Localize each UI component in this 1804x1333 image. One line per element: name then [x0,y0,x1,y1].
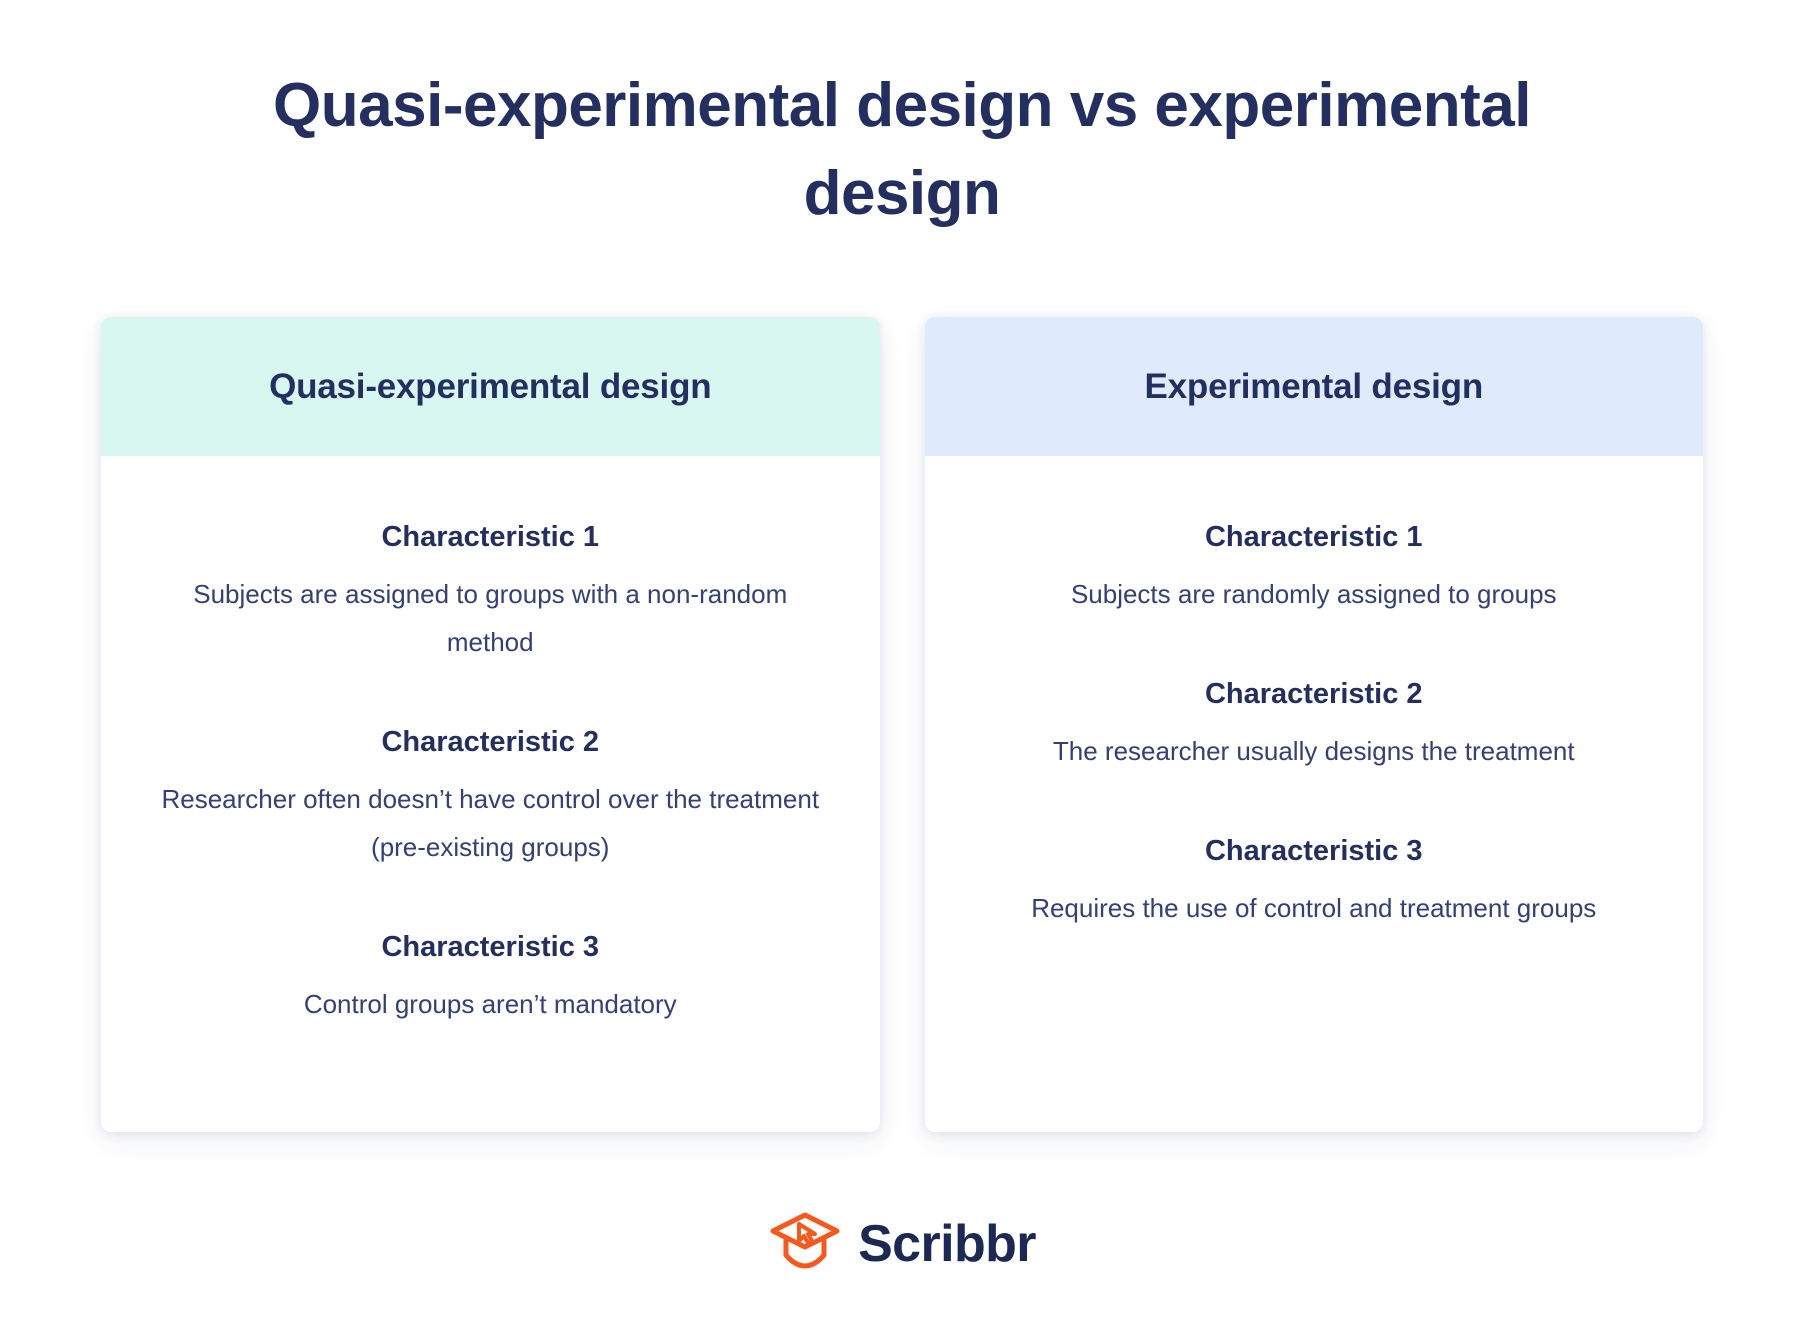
card-header-quasi-experimental-design: Quasi-experimental design [101,317,880,456]
characteristic-description: Control groups aren’t mandatory [160,980,820,1028]
characteristic-description: Researcher often doesn’t have control ov… [160,775,820,871]
characteristic-block: Characteristic 3 Requires the use of con… [963,832,1666,932]
characteristic-block: Characteristic 3 Control groups aren’t m… [139,928,842,1028]
card-body-experimental-design: Characteristic 1 Subjects are randomly a… [925,456,1704,1132]
characteristic-description: Subjects are randomly assigned to groups [984,570,1644,618]
footer-branding: Scribbr [0,1210,1804,1277]
characteristic-description: Subjects are assigned to groups with a n… [160,570,820,666]
comparison-cards: Quasi-experimental design Characteristic… [101,317,1703,1132]
card-quasi-experimental-design: Quasi-experimental design Characteristic… [101,317,880,1132]
card-header-label: Quasi-experimental design [269,367,711,407]
card-header-experimental-design: Experimental design [925,317,1704,456]
characteristic-title: Characteristic 1 [139,518,842,556]
card-body-quasi-experimental-design: Characteristic 1 Subjects are assigned t… [101,456,880,1132]
infographic-page: Quasi-experimental design vs experimenta… [0,0,1804,1333]
characteristic-title: Characteristic 3 [963,832,1666,870]
characteristic-block: Characteristic 2 The researcher usually … [963,675,1666,775]
characteristic-block: Characteristic 2 Researcher often doesn’… [139,723,842,871]
graduation-cap-cursor-icon [768,1210,842,1277]
characteristic-title: Characteristic 2 [963,675,1666,713]
characteristic-title: Characteristic 2 [139,723,842,761]
characteristic-title: Characteristic 1 [963,518,1666,556]
card-experimental-design: Experimental design Characteristic 1 Sub… [925,317,1704,1132]
characteristic-block: Characteristic 1 Subjects are assigned t… [139,518,842,666]
characteristic-title: Characteristic 3 [139,928,842,966]
page-title: Quasi-experimental design vs experimenta… [0,62,1804,238]
card-header-label: Experimental design [1144,367,1483,407]
characteristic-block: Characteristic 1 Subjects are randomly a… [963,518,1666,618]
page-title-wrapper: Quasi-experimental design vs experimenta… [0,62,1804,238]
characteristic-description: The researcher usually designs the treat… [984,727,1644,775]
logo-wordmark: Scribbr [858,1218,1036,1270]
characteristic-description: Requires the use of control and treatmen… [984,884,1644,932]
